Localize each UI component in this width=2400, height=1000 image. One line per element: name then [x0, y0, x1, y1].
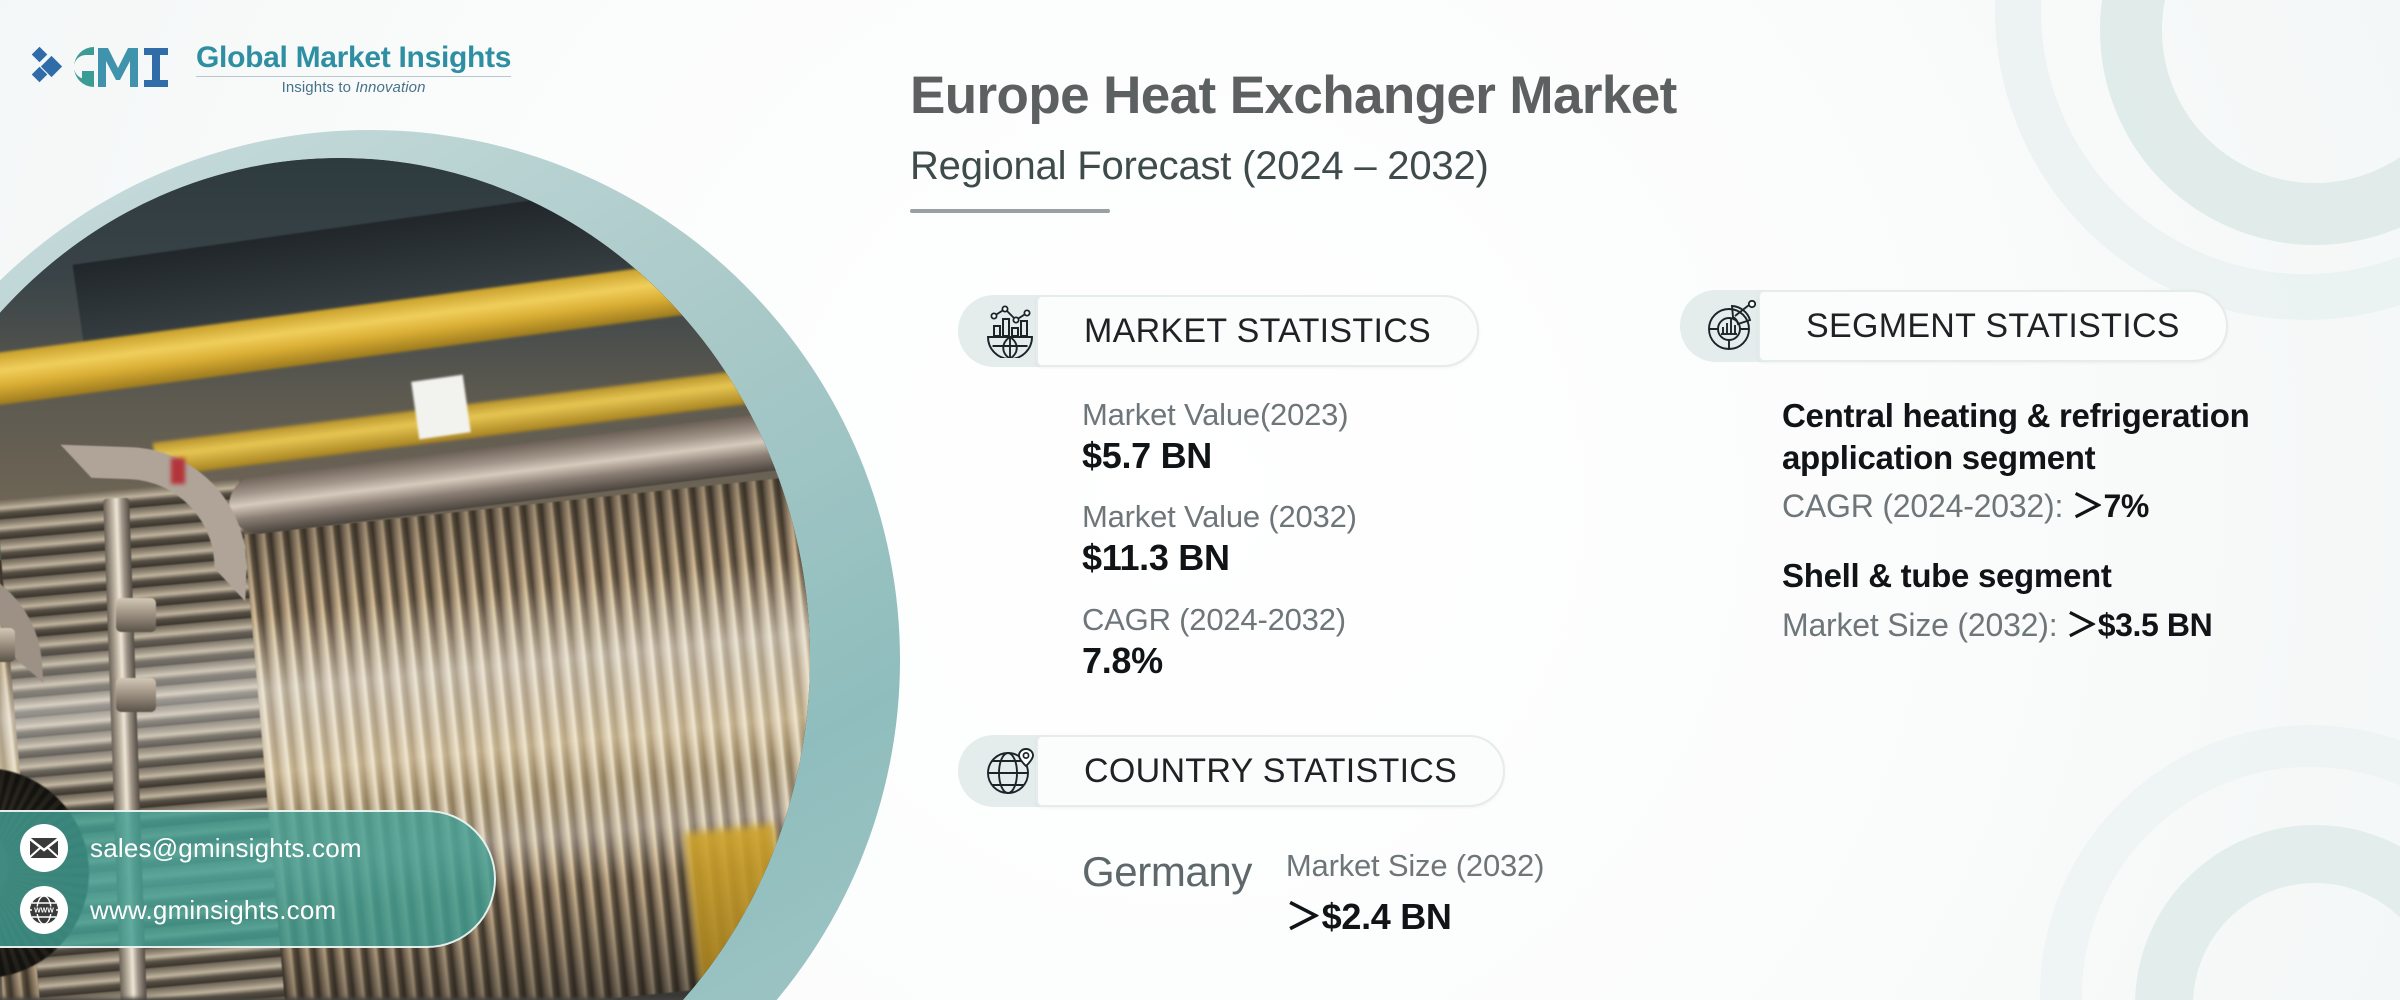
country-metric: Market Size (2032) ＞$2.4 BN: [1286, 848, 1544, 940]
country-statistics-label-box: COUNTRY STATISTICS: [1036, 735, 1505, 807]
segment-statistics-list: Central heating & refrigeration applicat…: [1782, 395, 2362, 646]
svg-text:WWW: WWW: [34, 908, 54, 915]
country-metric-label: Market Size (2032): [1286, 848, 1544, 884]
country-name: Germany: [1082, 848, 1252, 896]
brand-tagline: Insights to Innovation: [196, 79, 511, 96]
gmi-diamond-mark-icon: [32, 35, 182, 104]
market-statistics-label-box: MARKET STATISTICS: [1036, 295, 1479, 367]
country-statistics-label: COUNTRY STATISTICS: [1084, 752, 1457, 791]
page-subtitle: Regional Forecast (2024 – 2032): [910, 144, 2170, 189]
contact-pill: sales@gminsights.com WWW www.gminsights.…: [0, 810, 496, 948]
market-statistics-pill[interactable]: MARKET STATISTICS: [958, 295, 1479, 367]
gmi-wordmark: Global Market Insights Insights to Innov…: [196, 42, 511, 97]
stat-value: $5.7 BN: [1082, 434, 1602, 479]
contact-email-row[interactable]: sales@gminsights.com: [20, 824, 494, 872]
decorative-arc-bottom-right-inner: [2135, 825, 2400, 1000]
segment-metric: CAGR (2024-2032): ＞7%: [1782, 481, 2362, 527]
gmi-logo[interactable]: Global Market Insights Insights to Innov…: [32, 34, 432, 104]
market-statistics-label: MARKET STATISTICS: [1084, 312, 1431, 351]
segment-metric-label: Market Size (2032):: [1782, 607, 2066, 643]
segment-statistics-pill[interactable]: SEGMENT STATISTICS: [1680, 290, 2228, 362]
segment-metric-value: ＞7%: [2072, 488, 2149, 524]
page-title: Europe Heat Exchanger Market: [910, 68, 2170, 124]
brand-divider: [196, 76, 511, 77]
envelope-icon: [20, 824, 68, 872]
stat-value: $11.3 BN: [1082, 536, 1602, 581]
stat-label: Market Value (2032): [1082, 498, 1602, 536]
segment-item: Shell & tube segment Market Size (2032):…: [1782, 555, 2362, 645]
segment-statistics-label-box: SEGMENT STATISTICS: [1758, 290, 2228, 362]
title-block: Europe Heat Exchanger Market Regional Fo…: [910, 68, 2170, 213]
www-globe-icon: WWW: [20, 886, 68, 934]
decorative-arc-bottom-right-outer: [2040, 725, 2400, 1000]
segment-statistics-label: SEGMENT STATISTICS: [1806, 307, 2180, 346]
contact-email: sales@gminsights.com: [90, 833, 362, 864]
segment-metric-value: ＞$3.5 BN: [2066, 607, 2212, 643]
stat-label: Market Value(2023): [1082, 396, 1602, 434]
segment-item: Central heating & refrigeration applicat…: [1782, 395, 2362, 527]
title-divider: [910, 209, 1110, 213]
market-stat-row: CAGR (2024-2032) 7.8%: [1082, 601, 1602, 683]
segment-title: Central heating & refrigeration applicat…: [1782, 395, 2362, 479]
country-metric-value: ＞$2.4 BN: [1286, 888, 1544, 940]
contact-website-row[interactable]: WWW www.gminsights.com: [20, 886, 494, 934]
country-statistics-pill[interactable]: COUNTRY STATISTICS: [958, 735, 1505, 807]
brand-name: Global Market Insights: [196, 42, 511, 74]
market-stat-row: Market Value (2032) $11.3 BN: [1082, 498, 1602, 580]
segment-metric: Market Size (2032): ＞$3.5 BN: [1782, 600, 2362, 646]
market-stat-row: Market Value(2023) $5.7 BN: [1082, 396, 1602, 478]
infographic-canvas: Global Market Insights Insights to Innov…: [0, 0, 2400, 1000]
segment-title: Shell & tube segment: [1782, 555, 2362, 597]
segment-metric-label: CAGR (2024-2032):: [1782, 488, 2072, 524]
stat-value: 7.8%: [1082, 639, 1602, 684]
market-statistics-list: Market Value(2023) $5.7 BN Market Value …: [1082, 396, 1602, 703]
country-statistics-content: Germany Market Size (2032) ＞$2.4 BN: [1082, 848, 1544, 940]
stat-label: CAGR (2024-2032): [1082, 601, 1602, 639]
segment-spacer: [1782, 527, 2362, 555]
contact-website: www.gminsights.com: [90, 895, 336, 926]
